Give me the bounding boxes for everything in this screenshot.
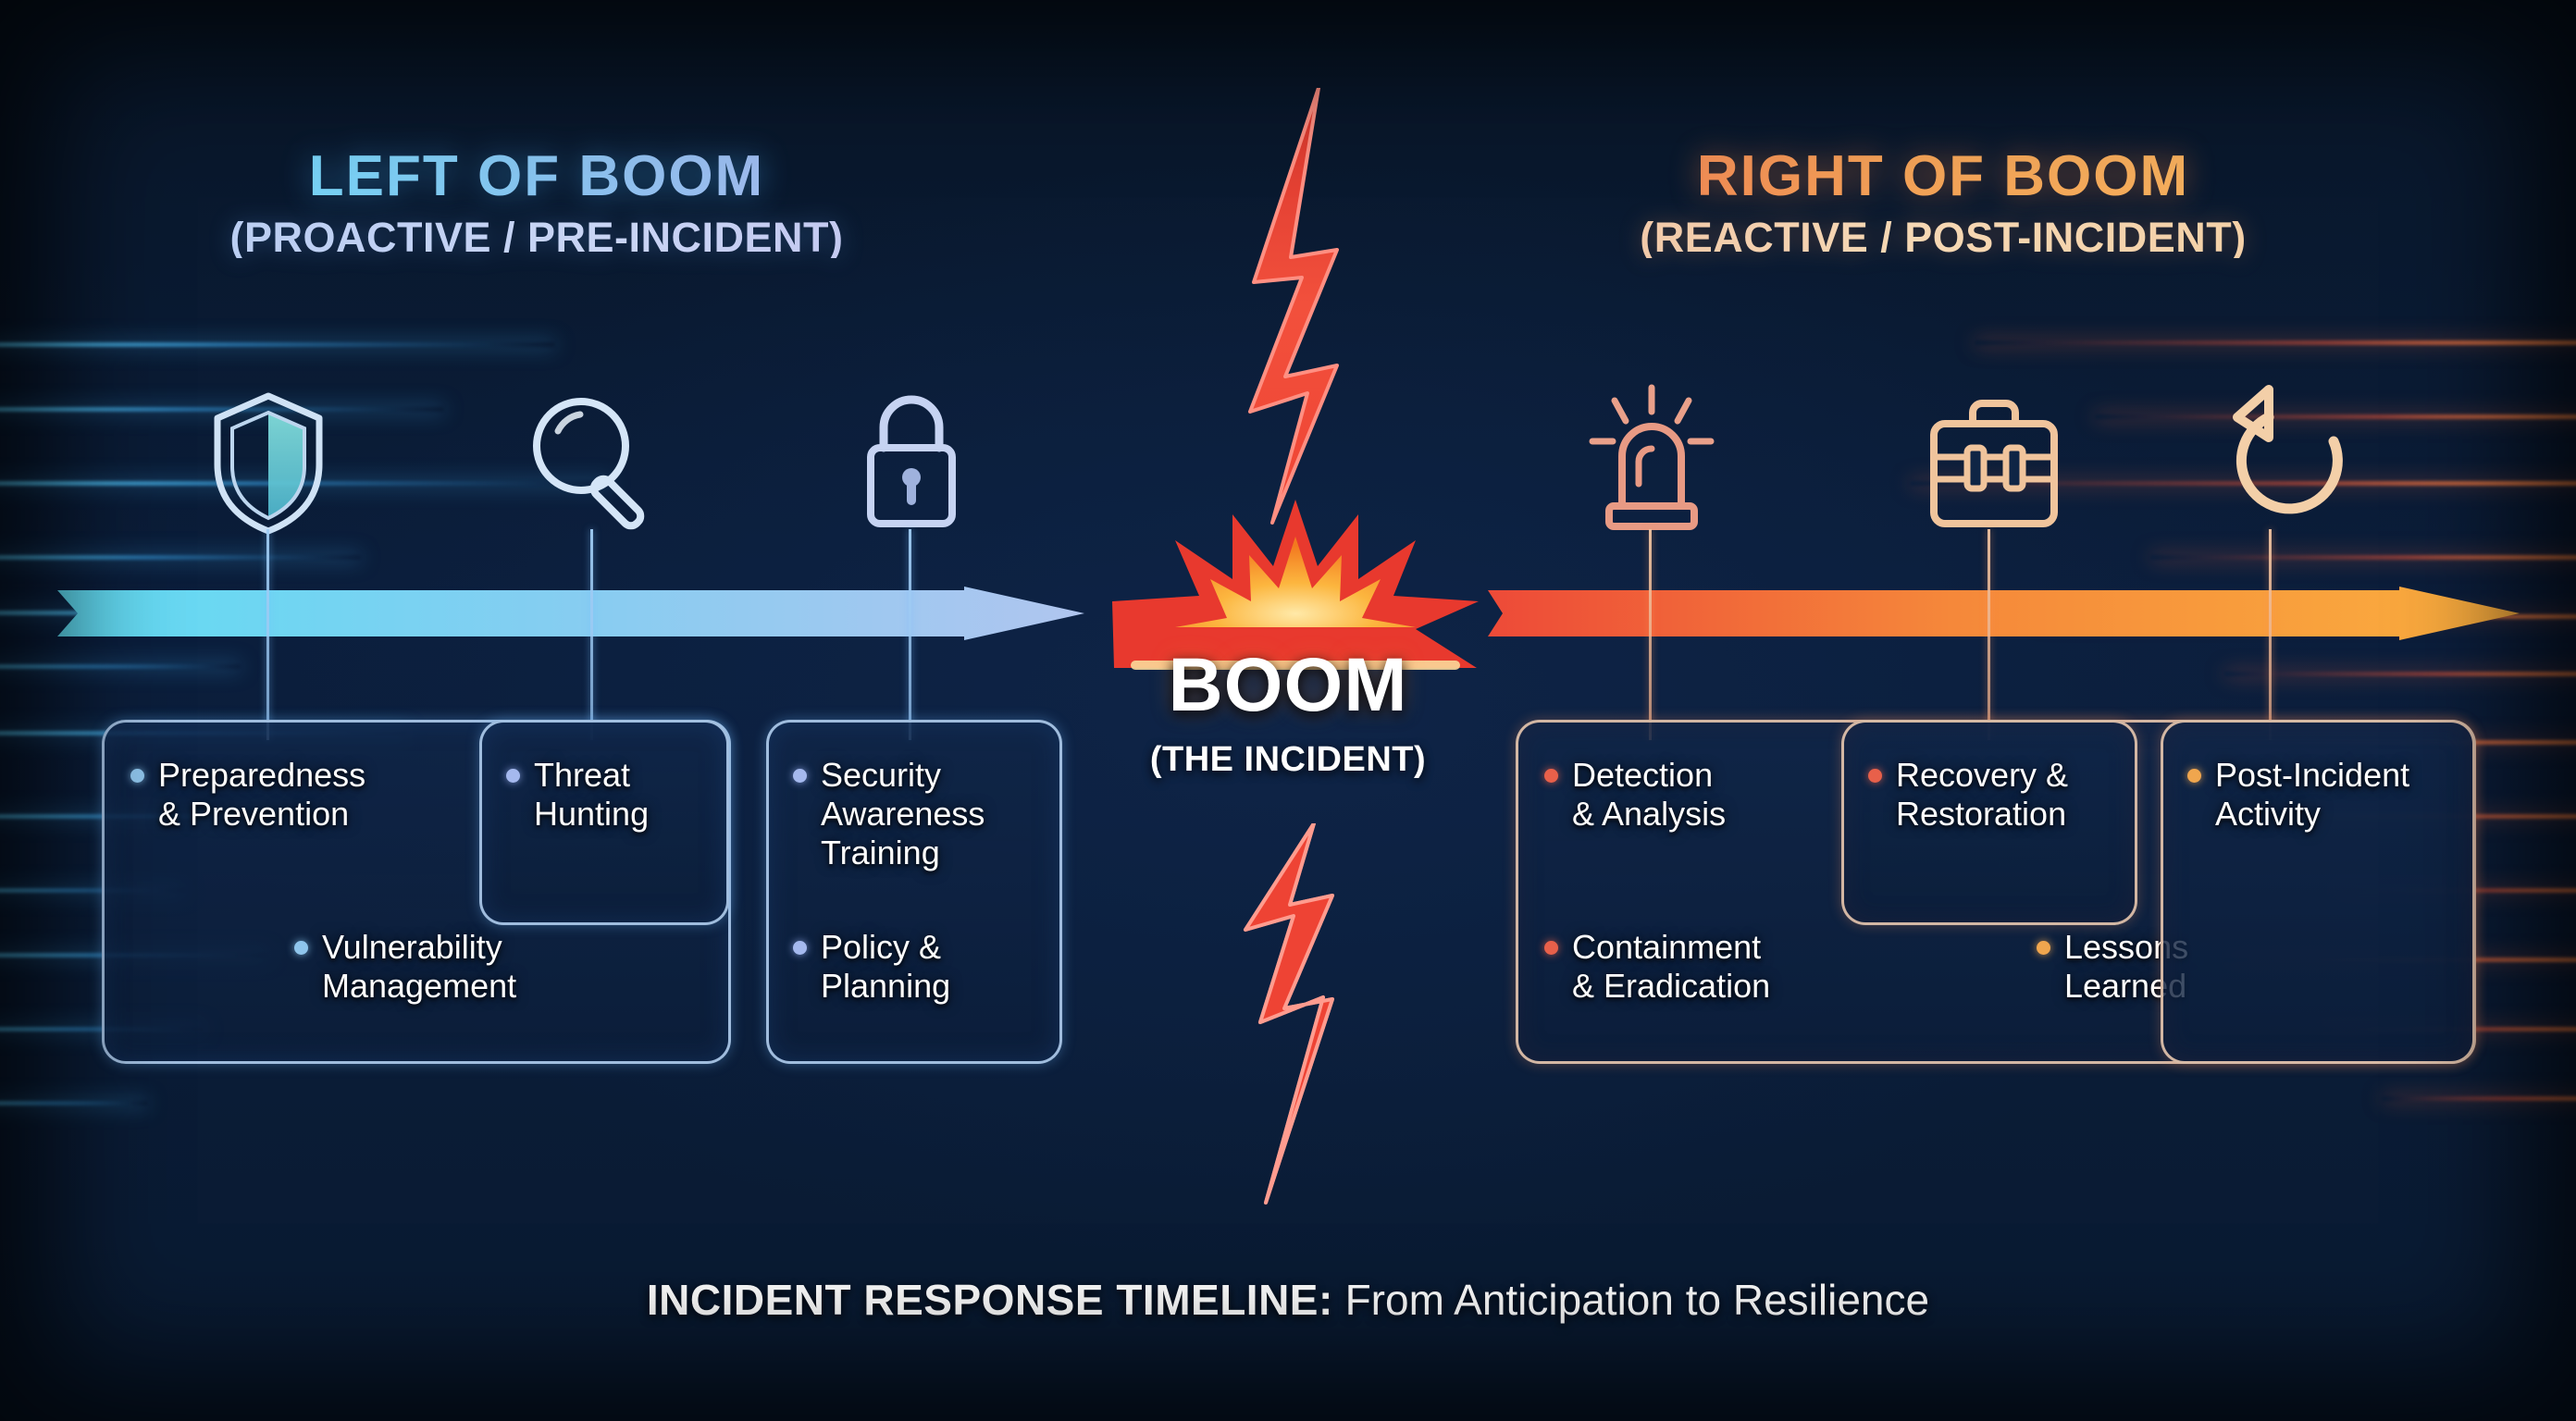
shield-icon (208, 389, 328, 537)
caption-light: From Anticipation to Resilience (1333, 1276, 1929, 1324)
left-header-title: LEFT OF BOOM (204, 148, 870, 205)
right-header-subtitle: (REACTIVE / POST-INCIDENT) (1573, 216, 2313, 258)
card-item-label: Threat Hunting (534, 756, 649, 834)
card-item-label: Vulnerability Management (322, 928, 516, 1006)
bullet-dot (130, 769, 144, 783)
connector-right-1 (1649, 529, 1652, 740)
card-item-label: Policy & Planning (821, 928, 950, 1006)
connector-left-2 (590, 529, 593, 740)
left-timeline-arrow (57, 587, 1084, 640)
card-item-label: Preparedness & Prevention (158, 756, 365, 834)
right-header-title: RIGHT OF BOOM (1573, 148, 2313, 205)
card-security-awareness[interactable]: Security Awareness Training Policy & Pla… (766, 720, 1062, 1064)
card-item-label: Detection & Analysis (1572, 756, 1726, 834)
lightning-bolt-bottom (1194, 823, 1453, 1217)
connector-right-2 (1988, 529, 1990, 740)
caption-strong: INCIDENT RESPONSE TIMELINE: (647, 1276, 1333, 1324)
padlock-icon (856, 387, 967, 535)
bullet-dot (1544, 941, 1558, 955)
magnifier-icon (523, 389, 662, 537)
bullet-dot (1868, 769, 1882, 783)
bullet-dot (2037, 941, 2050, 955)
lightning-bolt-top (1189, 88, 1448, 555)
card-item-label: Recovery & Restoration (1896, 756, 2068, 834)
caption: INCIDENT RESPONSE TIMELINE: From Anticip… (0, 1275, 2576, 1325)
right-of-boom-header: RIGHT OF BOOM (REACTIVE / POST-INCIDENT) (1573, 148, 2313, 258)
bullet-dot (793, 769, 807, 783)
card-post-incident[interactable]: Post-Incident Activity (2161, 720, 2475, 1064)
connector-left-1 (266, 529, 269, 740)
left-of-boom-header: LEFT OF BOOM (PROACTIVE / PRE-INCIDENT) (204, 148, 870, 258)
card-item-label: Containment & Eradication (1572, 928, 1770, 1006)
bullet-dot (793, 941, 807, 955)
bullet-dot (506, 769, 520, 783)
card-item-label: Post-Incident Activity (2215, 756, 2409, 834)
card-recovery[interactable]: Recovery & Restoration (1841, 720, 2137, 925)
bullet-dot (2187, 769, 2201, 783)
siren-icon (1587, 384, 1716, 537)
card-item-label: Security Awareness Training (821, 756, 985, 872)
left-header-subtitle: (PROACTIVE / PRE-INCIDENT) (204, 216, 870, 258)
connector-right-3 (2269, 529, 2272, 740)
bullet-dot (1544, 769, 1558, 783)
card-threat-hunting[interactable]: Threat Hunting (479, 720, 729, 925)
boom-title: BOOM (1094, 648, 1482, 723)
right-timeline-arrow (1488, 587, 2520, 640)
restore-arrow-icon (2221, 384, 2359, 532)
connector-left-3 (909, 529, 911, 740)
infographic-canvas: LEFT OF BOOM (PROACTIVE / PRE-INCIDENT) … (0, 0, 2576, 1421)
boom-subtitle: (THE INCIDENT) (1094, 740, 1482, 780)
bullet-dot (294, 941, 308, 955)
toolbox-icon (1925, 390, 2063, 534)
